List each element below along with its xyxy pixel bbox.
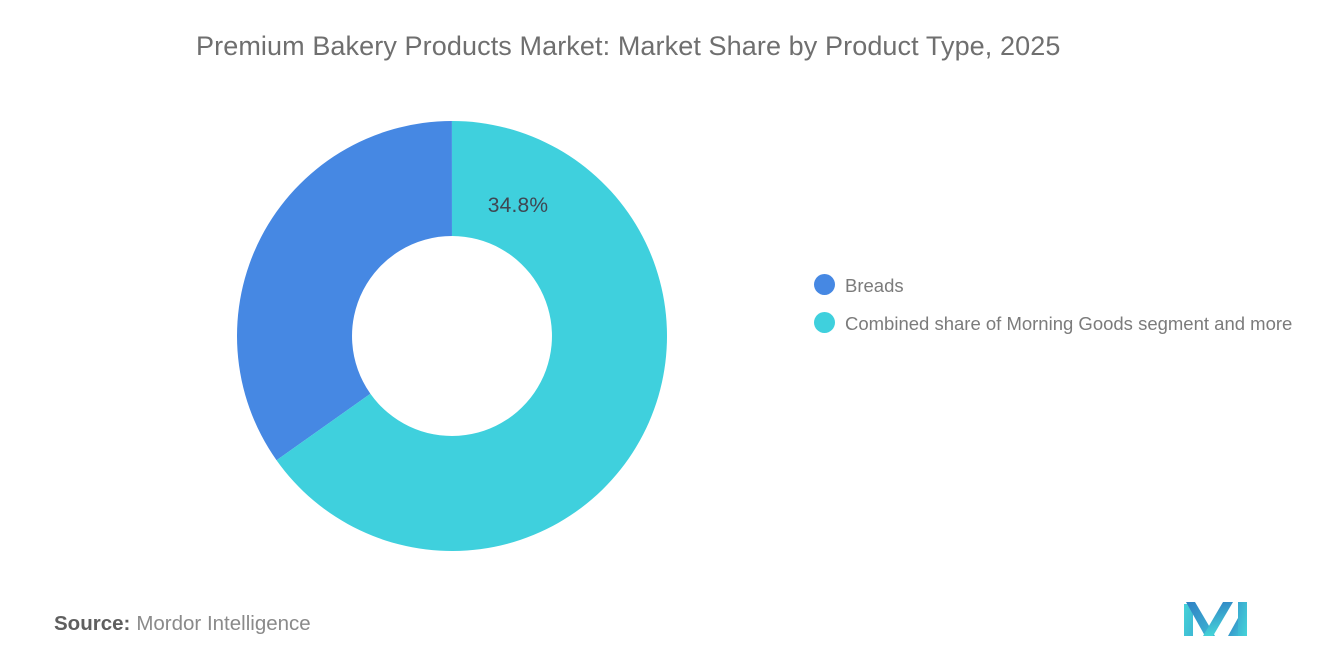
logo-svg (1182, 596, 1258, 640)
donut-chart (237, 121, 667, 551)
source-value: Mordor Intelligence (136, 612, 310, 635)
mordor-intelligence-logo-icon (1182, 596, 1258, 640)
source-label: Source: (54, 612, 130, 635)
chart-legend: Breads Combined share of Morning Goods s… (814, 272, 1304, 348)
legend-swatch-icon (814, 274, 835, 295)
donut-chart-svg (237, 121, 667, 551)
legend-item-label: Breads (845, 272, 904, 300)
legend-item-morning-goods[interactable]: Combined share of Morning Goods segment … (814, 310, 1304, 338)
chart-canvas: Premium Bakery Products Market: Market S… (0, 0, 1320, 665)
legend-item-label: Combined share of Morning Goods segment … (845, 310, 1292, 338)
source-attribution: Source:Mordor Intelligence (54, 612, 311, 636)
page-title: Premium Bakery Products Market: Market S… (196, 31, 1196, 62)
legend-item-breads[interactable]: Breads (814, 272, 1304, 300)
donut-slice[interactable] (237, 121, 452, 460)
slice-data-label-breads: 34.8% (462, 194, 574, 218)
legend-swatch-icon (814, 312, 835, 333)
